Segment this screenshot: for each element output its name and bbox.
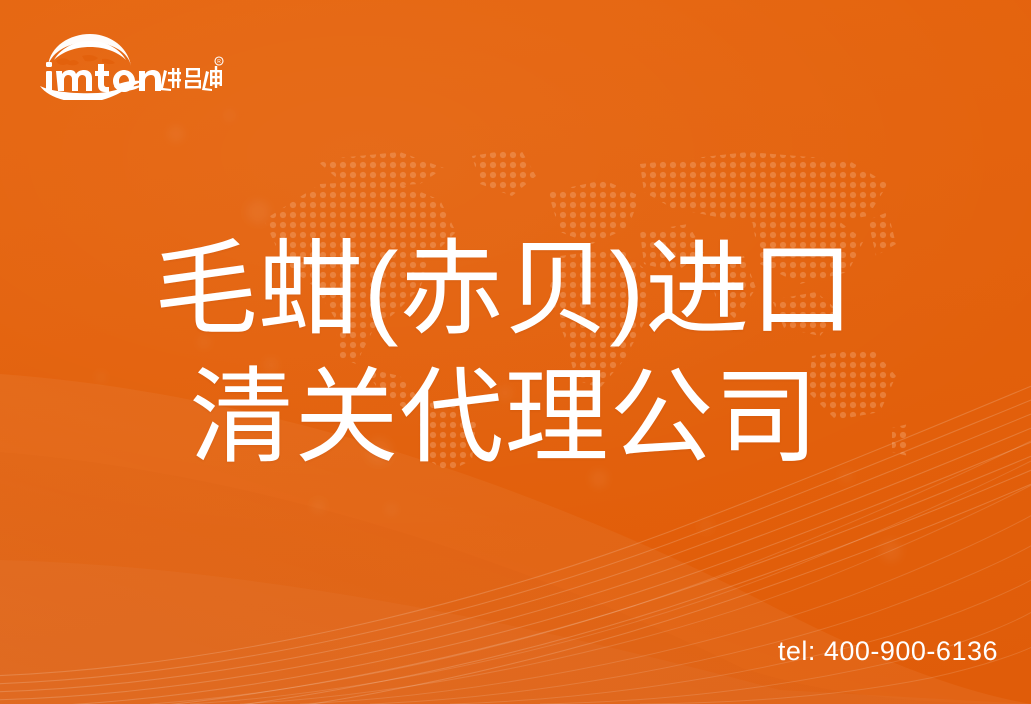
promo-banner: R 毛蚶(赤贝)进口 清关代理公司 tel: 400-900-6136 <box>0 0 1031 704</box>
page-title-line-2: 清关代理公司 <box>0 354 1009 482</box>
page-title-line-1: 毛蚶(赤贝)进口 <box>0 226 1009 354</box>
contact-phone[interactable]: tel: 400-900-6136 <box>778 636 998 667</box>
brand-chinese-mark <box>160 66 222 91</box>
imton-wordmark <box>46 62 161 92</box>
globe-icon <box>48 34 131 66</box>
imton-logo[interactable]: R <box>36 30 226 100</box>
registered-trademark-letter: R <box>217 59 221 65</box>
page-title: 毛蚶(赤贝)进口 清关代理公司 <box>0 226 1009 482</box>
